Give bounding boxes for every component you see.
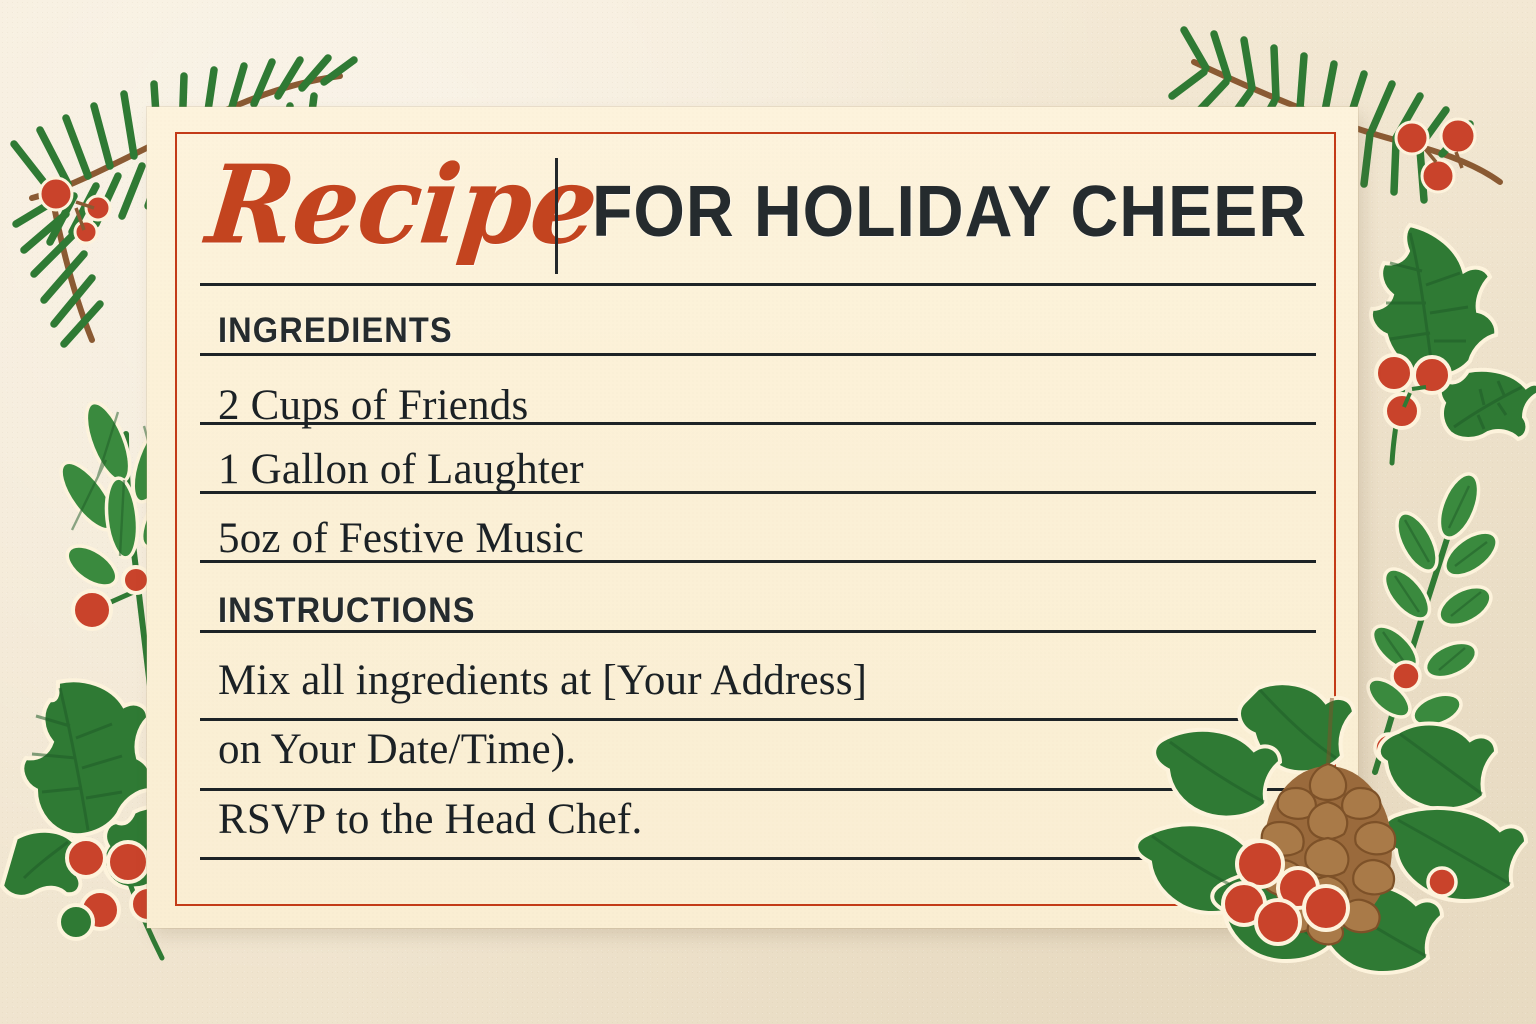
rule-line (200, 353, 1316, 356)
rule-line (200, 630, 1316, 633)
page-title-script: Recipe (202, 144, 603, 267)
page-title-main: FOR HOLIDAY CHEER (592, 172, 1307, 252)
recipe-card-canvas: Recipe FOR HOLIDAY CHEER INGREDIENTS 2 C… (0, 0, 1536, 1024)
rule-line (200, 788, 1316, 791)
ingredient-line: 2 Cups of Friends (218, 382, 528, 430)
rule-line (200, 857, 1316, 860)
instruction-line: Mix all ingredients at [Your Address] (218, 657, 867, 705)
header-divider (555, 158, 558, 274)
instruction-line: on Your Date/Time). (218, 726, 576, 774)
card-header: Recipe FOR HOLIDAY CHEER (200, 150, 1320, 275)
section-label-ingredients: INGREDIENTS (218, 312, 453, 350)
ingredient-line: 1 Gallon of Laughter (218, 446, 584, 494)
instruction-line: RSVP to the Head Chef. (218, 796, 642, 844)
rule-line (200, 283, 1316, 286)
section-label-instructions: INSTRUCTIONS (218, 592, 476, 630)
ingredient-line: 5oz of Festive Music (218, 515, 584, 563)
rule-line (200, 718, 1316, 721)
